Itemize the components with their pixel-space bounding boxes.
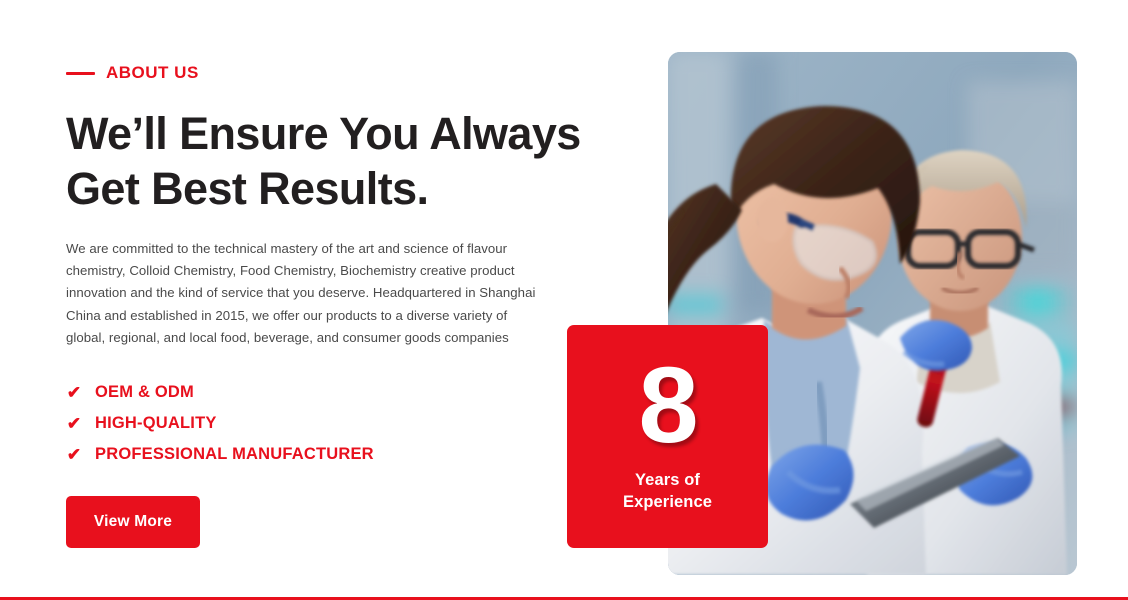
list-item: ✔ OEM & ODM — [66, 383, 626, 402]
about-us-section: ABOUT US We’ll Ensure You Always Get Bes… — [0, 0, 1128, 600]
eyebrow-label: ABOUT US — [106, 63, 199, 83]
feature-list: ✔ OEM & ODM ✔ HIGH-QUALITY ✔ PROFESSIONA… — [66, 383, 626, 464]
check-icon: ✔ — [66, 446, 82, 463]
eyebrow-dash-icon — [66, 72, 95, 75]
check-icon: ✔ — [66, 384, 82, 401]
view-more-button[interactable]: View More — [66, 496, 200, 548]
feature-label: PROFESSIONAL MANUFACTURER — [95, 445, 374, 464]
page-title: We’ll Ensure You Always Get Best Results… — [66, 106, 626, 216]
badge-caption: Years of Experience — [623, 469, 712, 513]
feature-label: HIGH-QUALITY — [95, 414, 217, 433]
badge-caption-line-2: Experience — [623, 491, 712, 513]
badge-caption-line-1: Years of — [623, 469, 712, 491]
experience-badge: 8 Years of Experience — [567, 325, 768, 548]
about-description: We are committed to the technical master… — [66, 238, 546, 349]
headline-line-1: We’ll Ensure You Always — [66, 106, 626, 161]
section-eyebrow: ABOUT US — [66, 62, 626, 84]
badge-number: 8 — [638, 355, 696, 455]
headline-line-2: Get Best Results. — [66, 161, 626, 216]
about-content-column: ABOUT US We’ll Ensure You Always Get Bes… — [66, 62, 626, 548]
check-icon: ✔ — [66, 415, 82, 432]
feature-label: OEM & ODM — [95, 383, 194, 402]
list-item: ✔ PROFESSIONAL MANUFACTURER — [66, 445, 626, 464]
list-item: ✔ HIGH-QUALITY — [66, 414, 626, 433]
